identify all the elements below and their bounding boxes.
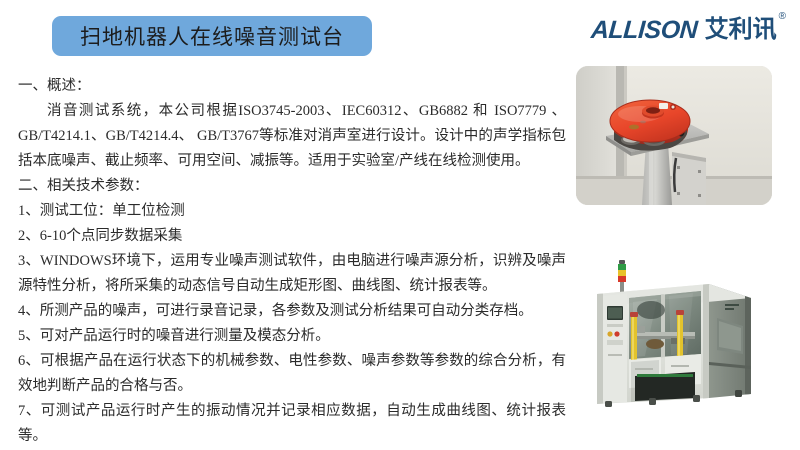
registered-trademark-icon: ® [779,12,786,22]
brand-chinese-text: 艾利讯 [705,18,777,42]
content-body: 一、概述： 消音测试系统，本公司根据ISO3745-2003、IEC60312、… [18,74,566,449]
photo-robot-vacuum [576,66,772,205]
section-paragraph-overview: 消音测试系统，本公司根据ISO3745-2003、IEC60312、GB6882… [18,99,566,174]
section-heading-parameters: 二、相关技术参数： [18,174,566,199]
parameter-item-2: 2、6-10个点同步数据采集 [18,224,566,249]
parameter-item-7: 7、可测试产品运行时产生的振动情况并记录相应数据，自动生成曲线图、统计报表等。 [18,399,566,449]
brand-latin-text: ALLISON [591,18,699,43]
parameter-item-5: 5、可对产品运行时的噪音进行测量及模态分析。 [18,324,566,349]
parameter-item-1: 1、测试工位：单工位检测 [18,199,566,224]
parameter-item-6: 6、可根据产品在运行状态下的机械参数、电性参数、噪声参数等参数的综合分析，有效地… [18,349,566,399]
photo-test-machine [575,258,771,416]
slide-root: 扫地机器人在线噪音测试台 ALLISON 艾利讯 ® 一、概述： 消音测试系统，… [0,0,800,450]
page-title: 扫地机器人在线噪音测试台 [80,21,344,51]
brand-logo: ALLISON 艾利讯 ® [591,18,786,43]
parameter-item-3: 3、WINDOWS环境下，运用专业噪声测试软件，由电脑进行噪声源分析，识辨及噪声… [18,249,566,299]
parameter-item-4: 4、所测产品的噪声，可进行录音记录，各参数及测试分析结果可自动分类存档。 [18,299,566,324]
title-banner: 扫地机器人在线噪音测试台 [52,16,372,56]
noise-test-chamber-illustration [575,258,771,416]
robot-vacuum-illustration [576,66,772,205]
section-heading-overview: 一、概述： [18,74,566,99]
